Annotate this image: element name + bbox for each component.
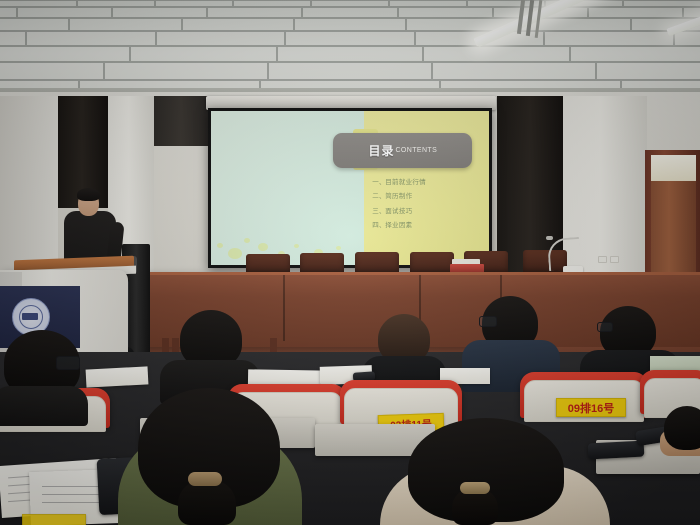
projected-slide: 目录 CONTENTS 一、 目前就业行情 二、 简历制作 三、 面试技巧 四、: [211, 111, 489, 265]
ceiling-tile: [596, 62, 700, 79]
ceiling-tile: [233, 0, 311, 7]
ceiling-tile: [674, 31, 700, 46]
ceiling-tile: [277, 46, 424, 62]
wall-outlet[interactable]: [610, 256, 619, 263]
ceiling-tile: [423, 46, 570, 62]
hair-tie: [188, 472, 222, 486]
ceiling-tile: [294, 18, 406, 31]
slide-title-band: 目录 CONTENTS: [333, 133, 472, 168]
door-transom-window: [651, 155, 696, 181]
ceiling-tile: [302, 7, 397, 18]
ceiling-tile-grid: [0, 0, 700, 98]
toc-number: 四、: [372, 219, 385, 229]
ceiling-tile: [570, 46, 700, 62]
door-panel[interactable]: [651, 181, 696, 275]
lecture-hall-photo: 目录 CONTENTS 一、 目前就业行情 二、 简历制作 三、 面试技巧 四、: [0, 0, 700, 525]
ceiling-tile: [0, 46, 130, 62]
slide-contents-list: 一、 目前就业行情 二、 简历制作 三、 面试技巧 四、 择业因素: [372, 176, 483, 234]
slide-title-en: CONTENTS: [395, 147, 437, 154]
eyeglasses-icon: [479, 316, 497, 327]
ceiling-tile: [623, 0, 700, 7]
seat-label-09-16: 09排16号: [556, 398, 626, 417]
ceiling-tile: [0, 7, 17, 18]
ceiling-tile: [389, 0, 467, 7]
paper-sheet: [86, 366, 149, 387]
ceiling: [0, 0, 700, 98]
university-emblem-mark: [22, 313, 38, 320]
ceiling-tile: [268, 62, 432, 79]
toc-number: 一、: [372, 176, 385, 186]
microphone-head-icon: [546, 236, 553, 240]
ceiling-tile: [26, 31, 155, 46]
ceiling-tile: [207, 7, 302, 18]
eyeglasses-icon: [56, 356, 80, 370]
toc-number: 二、: [372, 190, 385, 200]
ceiling-tile: [77, 0, 155, 7]
ceiling-tile: [112, 7, 207, 18]
list-item: 四、 择业因素: [372, 219, 483, 229]
wall-outlet[interactable]: [598, 256, 607, 263]
presenter-hair: [77, 188, 100, 201]
list-item: 三、 面试技巧: [372, 205, 483, 215]
toc-number: 三、: [372, 205, 385, 215]
projector-screen: 目录 CONTENTS 一、 目前就业行情 二、 简历制作 三、 面试技巧 四、: [208, 108, 492, 268]
list-item: 一、 目前就业行情: [372, 176, 483, 186]
ceiling-tile: [0, 31, 26, 46]
ceiling-tile: [544, 31, 673, 46]
ceiling-tile: [130, 46, 277, 62]
toc-text: 目前就业行情: [385, 176, 426, 186]
ceiling-tile: [398, 7, 493, 18]
curtain-strip: [154, 96, 208, 146]
stage-chair[interactable]: [355, 252, 399, 274]
ceiling-tile: [0, 62, 104, 79]
ceiling-tile: [0, 18, 69, 31]
ceiling-tile: [17, 7, 112, 18]
list-item: 二、 简历制作: [372, 190, 483, 200]
seat-label-partial: [22, 514, 86, 525]
ceiling-tile: [69, 18, 181, 31]
stage-chair[interactable]: [246, 254, 290, 274]
ceiling-tile: [155, 0, 233, 7]
ceiling-tile: [182, 18, 294, 31]
ceiling-tile: [432, 62, 596, 79]
toc-text: 择业因素: [385, 219, 412, 229]
ceiling-tile: [311, 0, 389, 7]
stage-chair[interactable]: [410, 252, 454, 274]
ceiling-tile: [104, 62, 268, 79]
audience-torso: [0, 386, 88, 426]
hair-tie: [460, 482, 490, 494]
stage-chair[interactable]: [300, 253, 344, 274]
slide-title-cn: 目录: [368, 142, 394, 159]
toc-text: 简历制作: [385, 190, 412, 200]
ceiling-tile: [156, 31, 285, 46]
ponytail: [178, 480, 236, 525]
audience-head: [664, 406, 700, 450]
ceiling-tile: [588, 7, 683, 18]
smartphone[interactable]: [588, 441, 645, 460]
eyeglasses-icon: [597, 322, 613, 332]
ceiling-tile: [285, 31, 414, 46]
ceiling-tile: [0, 0, 77, 7]
table-seam: [283, 275, 285, 341]
toc-text: 面试技巧: [385, 205, 412, 215]
